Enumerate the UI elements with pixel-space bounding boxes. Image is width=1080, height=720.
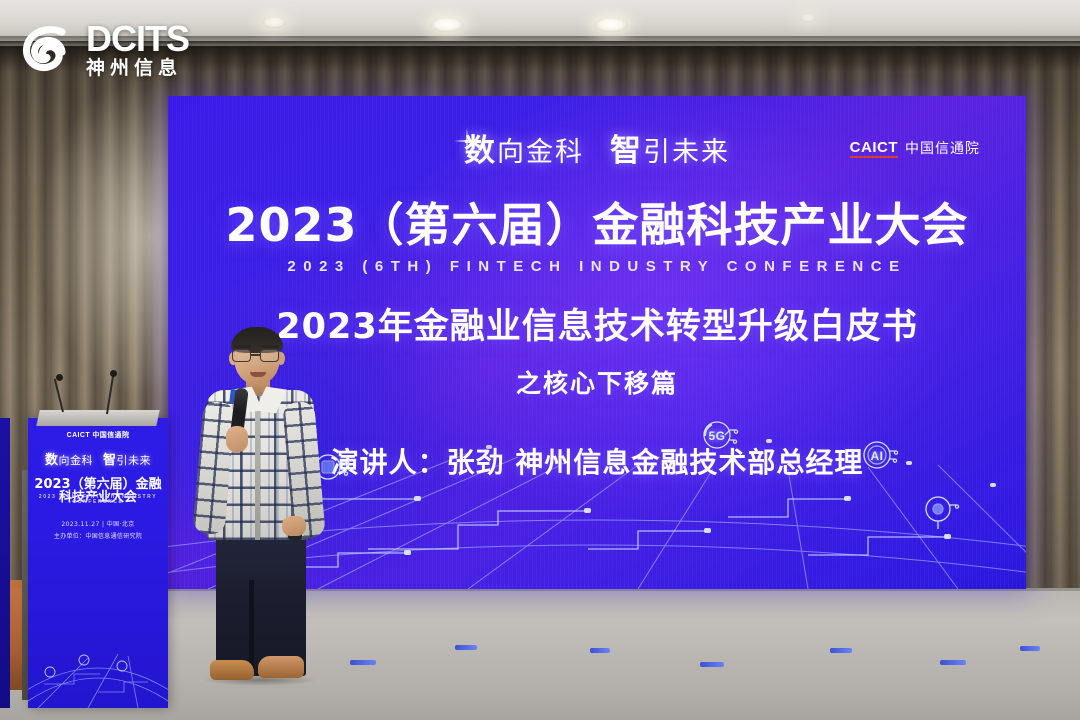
floor-marker bbox=[830, 648, 852, 653]
podium-side-panel bbox=[0, 418, 10, 708]
ceiling-downlight-icon bbox=[800, 14, 816, 22]
badge-ai-label: AI bbox=[854, 435, 900, 476]
ceiling-downlight-icon bbox=[594, 18, 628, 32]
presenter-brow-right bbox=[262, 345, 279, 348]
presenter-brow-left bbox=[234, 345, 251, 348]
conference-room-scene: CAICT 中国信通院 数向金科智引未来 2023（第六届）金融科技产业大会 2… bbox=[0, 0, 1080, 720]
dcits-logo: DCITS 神州信息 bbox=[18, 16, 248, 82]
screen-tagline: 数向金科智引未来 bbox=[168, 136, 1026, 167]
podium-date-line: 2023.11.27 | 中国·北京 bbox=[28, 522, 168, 528]
podium-mic-head-icon bbox=[110, 370, 117, 377]
floor-marker bbox=[455, 645, 477, 650]
tagline-char-a1: 数 bbox=[464, 133, 497, 169]
floor-marker bbox=[1020, 646, 1040, 651]
presenter-shirt-placket bbox=[255, 404, 260, 540]
badge-node-icon bbox=[920, 488, 962, 530]
podium-partner-logo: CAICT 中国信通院 bbox=[28, 432, 168, 439]
dcits-wordmark: DCITS bbox=[86, 21, 189, 57]
podium-organizer-line: 主办单位：中国信息通信研究院 bbox=[28, 534, 168, 540]
podium-tagline: 数向金科 智引未来 bbox=[28, 454, 168, 467]
dcits-swirl-icon bbox=[18, 20, 76, 78]
ceiling-downlight-icon bbox=[430, 18, 464, 32]
presenter-hand-right bbox=[282, 516, 306, 536]
floor-marker bbox=[590, 648, 610, 653]
floor-marker bbox=[350, 660, 376, 665]
conference-title-en: 2023 (6TH) FINTECH INDUSTRY CONFERENCE bbox=[168, 259, 1026, 274]
tagline-char-b1: 智 bbox=[610, 133, 643, 169]
podium-tagline-a1: 数 bbox=[45, 453, 59, 468]
podium-conference-title-en: 2023 (6TH) FINTECH INDUSTRY CONFERENCE bbox=[28, 495, 168, 505]
podium-tagline-b2: 引未来 bbox=[117, 454, 152, 467]
presenter-mouth bbox=[250, 372, 266, 377]
badge-5g-label: 5G bbox=[694, 415, 740, 456]
tagline-text-b2: 引未来 bbox=[643, 137, 730, 168]
floor-marker bbox=[940, 660, 966, 665]
podium-tagline-a2: 向金科 bbox=[58, 454, 93, 467]
tagline-text-a2: 向金科 bbox=[497, 137, 584, 168]
conference-title-cn: 2023（第六届）金融科技产业大会 bbox=[168, 201, 1026, 249]
presenter-trousers bbox=[216, 528, 306, 676]
dcits-name-cn: 神州信息 bbox=[86, 59, 189, 78]
presenter-leg-split bbox=[249, 580, 254, 676]
floor-marker bbox=[700, 662, 724, 667]
presenter-hand-left bbox=[226, 426, 248, 452]
presenter-shoe-left bbox=[210, 660, 254, 680]
ceiling-downlight-icon bbox=[262, 17, 286, 28]
presenter-figure bbox=[196, 330, 324, 682]
podium-tagline-b1: 智 bbox=[103, 453, 117, 468]
badge-ai-icon: AI bbox=[858, 434, 900, 476]
podium-lectern: CAICT 中国信通院 数向金科 智引未来 2023（第六届）金融科技产业大会 … bbox=[28, 418, 168, 708]
presenter-shoe-right bbox=[258, 656, 304, 678]
podium-top-surface bbox=[36, 410, 159, 426]
badge-5g-icon: 5G bbox=[698, 414, 740, 456]
eyeglasses-icon bbox=[232, 349, 282, 363]
podium-mic-head-icon bbox=[56, 374, 63, 381]
podium-circuit-graphic bbox=[28, 588, 168, 708]
